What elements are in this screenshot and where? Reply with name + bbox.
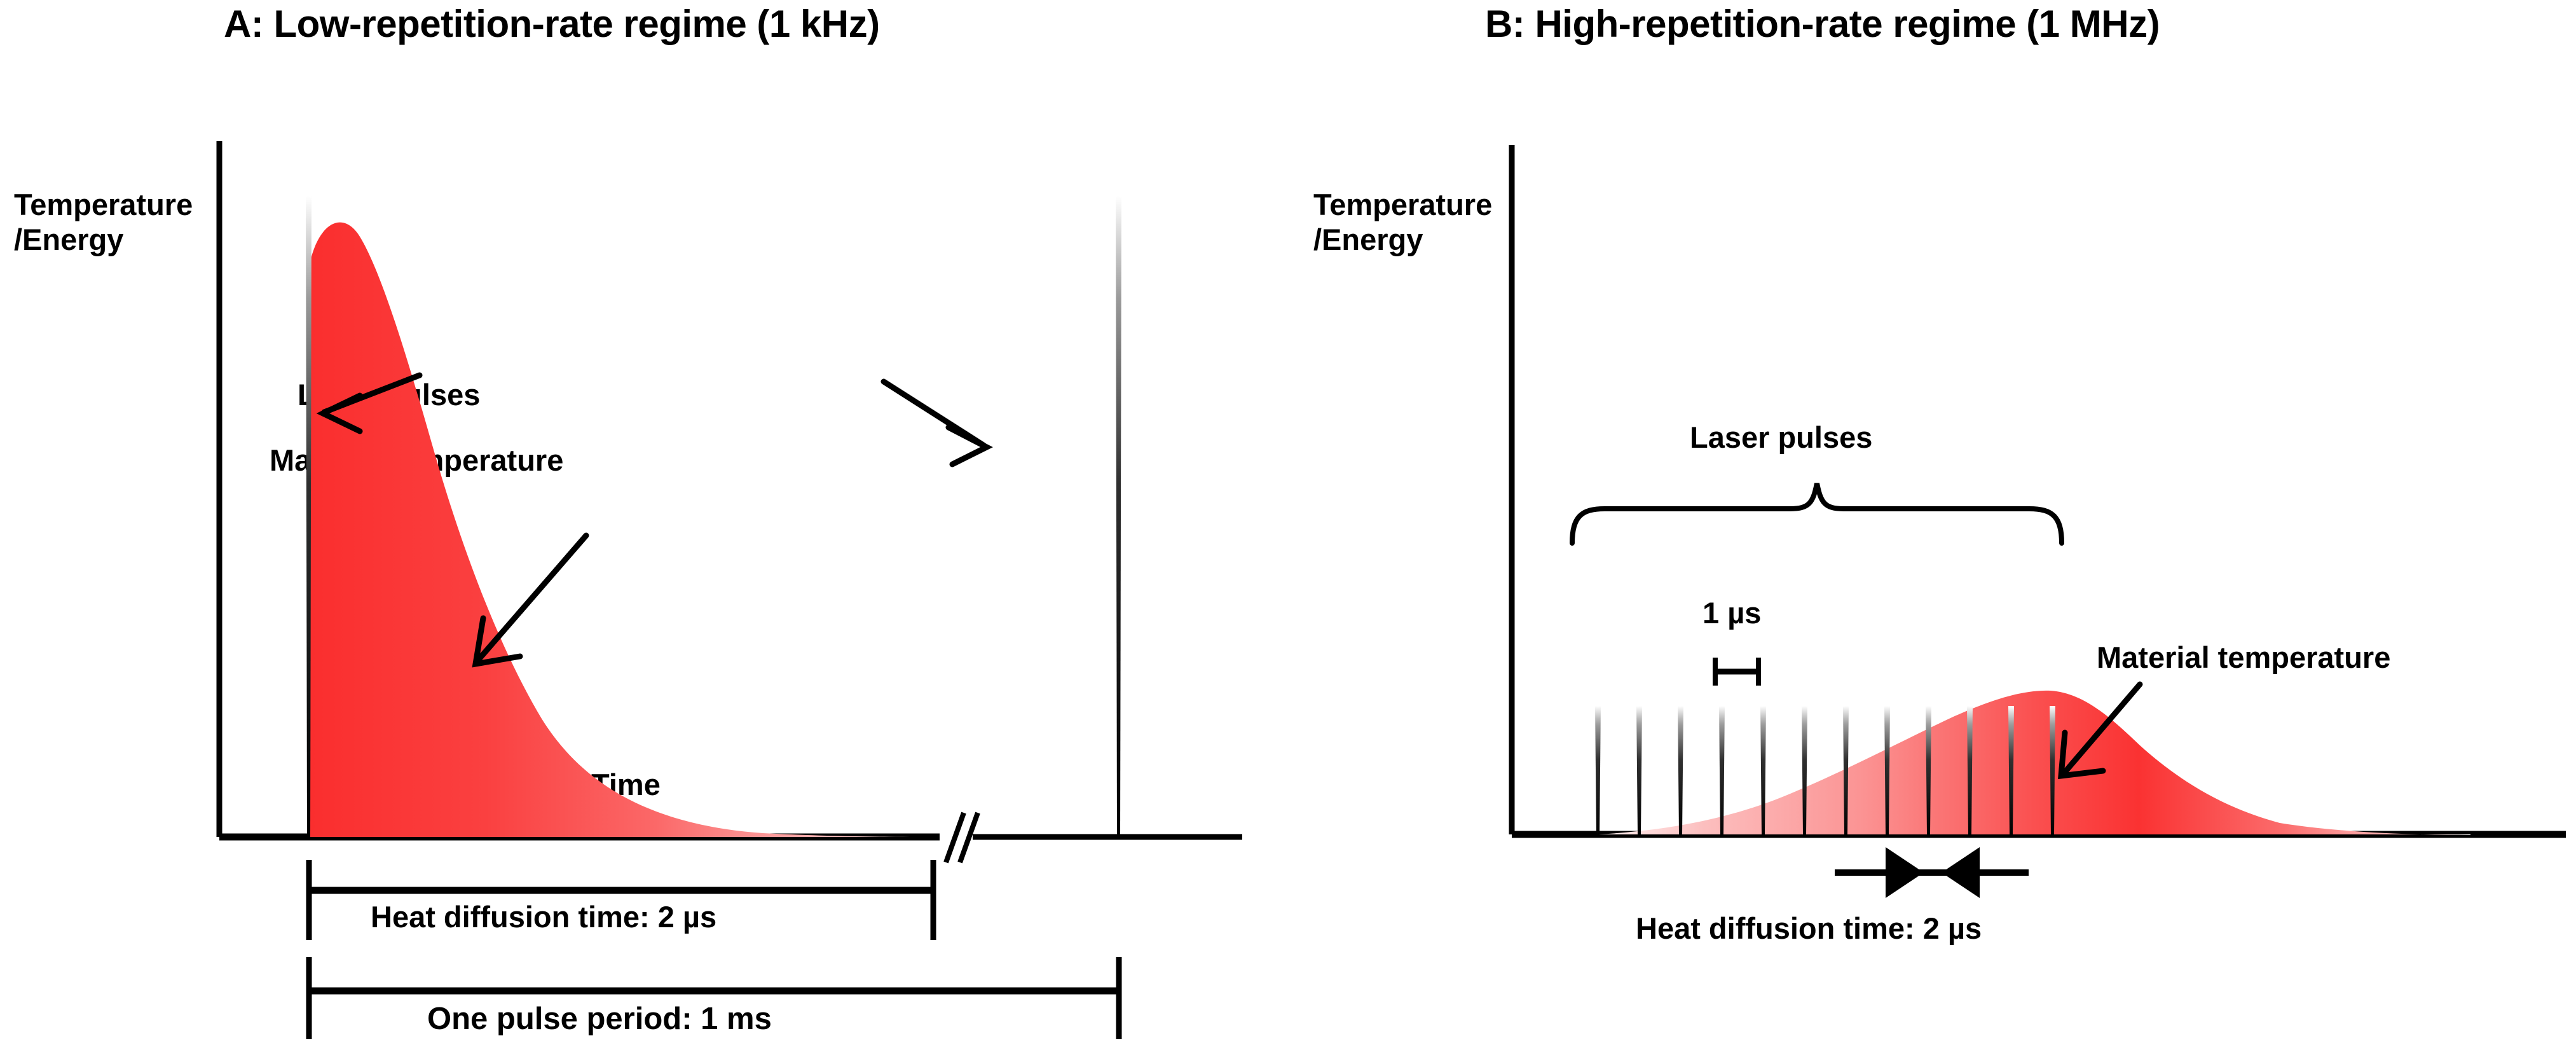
panel-b-laser-pulse-spike: [1636, 706, 1642, 834]
panel-a-low-rep-rate: A: Low-repetition-rate regime (1 kHz) Te…: [0, 0, 1288, 1064]
panel-b-heat-diffusion-arrow: [1835, 847, 2029, 898]
panel-b-laser-pulse-spike: [1719, 706, 1725, 834]
panel-a-temperature-curve: [309, 223, 940, 837]
panel-a-material-temperature-arrow: [476, 535, 586, 664]
panel-a-graphics: [0, 0, 1288, 1064]
panel-a-heat-diffusion-dimension: [309, 860, 933, 940]
panel-a-laser-pulses-arrow-right: [884, 382, 987, 464]
panel-a-laser-pulse-spike-2: [1116, 196, 1121, 837]
panel-b-temperature-curve: [1598, 691, 2470, 835]
panel-a-pulse-period-dimension: [309, 957, 1119, 1039]
panel-b-graphics: [1288, 0, 2576, 1064]
panel-b-laser-pulses-brace: [1572, 483, 2062, 543]
panel-b-high-rep-rate: B: High-repetition-rate regime (1 MHz) T…: [1288, 0, 2576, 1064]
panel-b-laser-pulse-spike: [1678, 706, 1683, 834]
panel-b-laser-pulse-spike: [1595, 706, 1601, 834]
panel-b-pulse-spacing-measure: [1715, 658, 1758, 686]
